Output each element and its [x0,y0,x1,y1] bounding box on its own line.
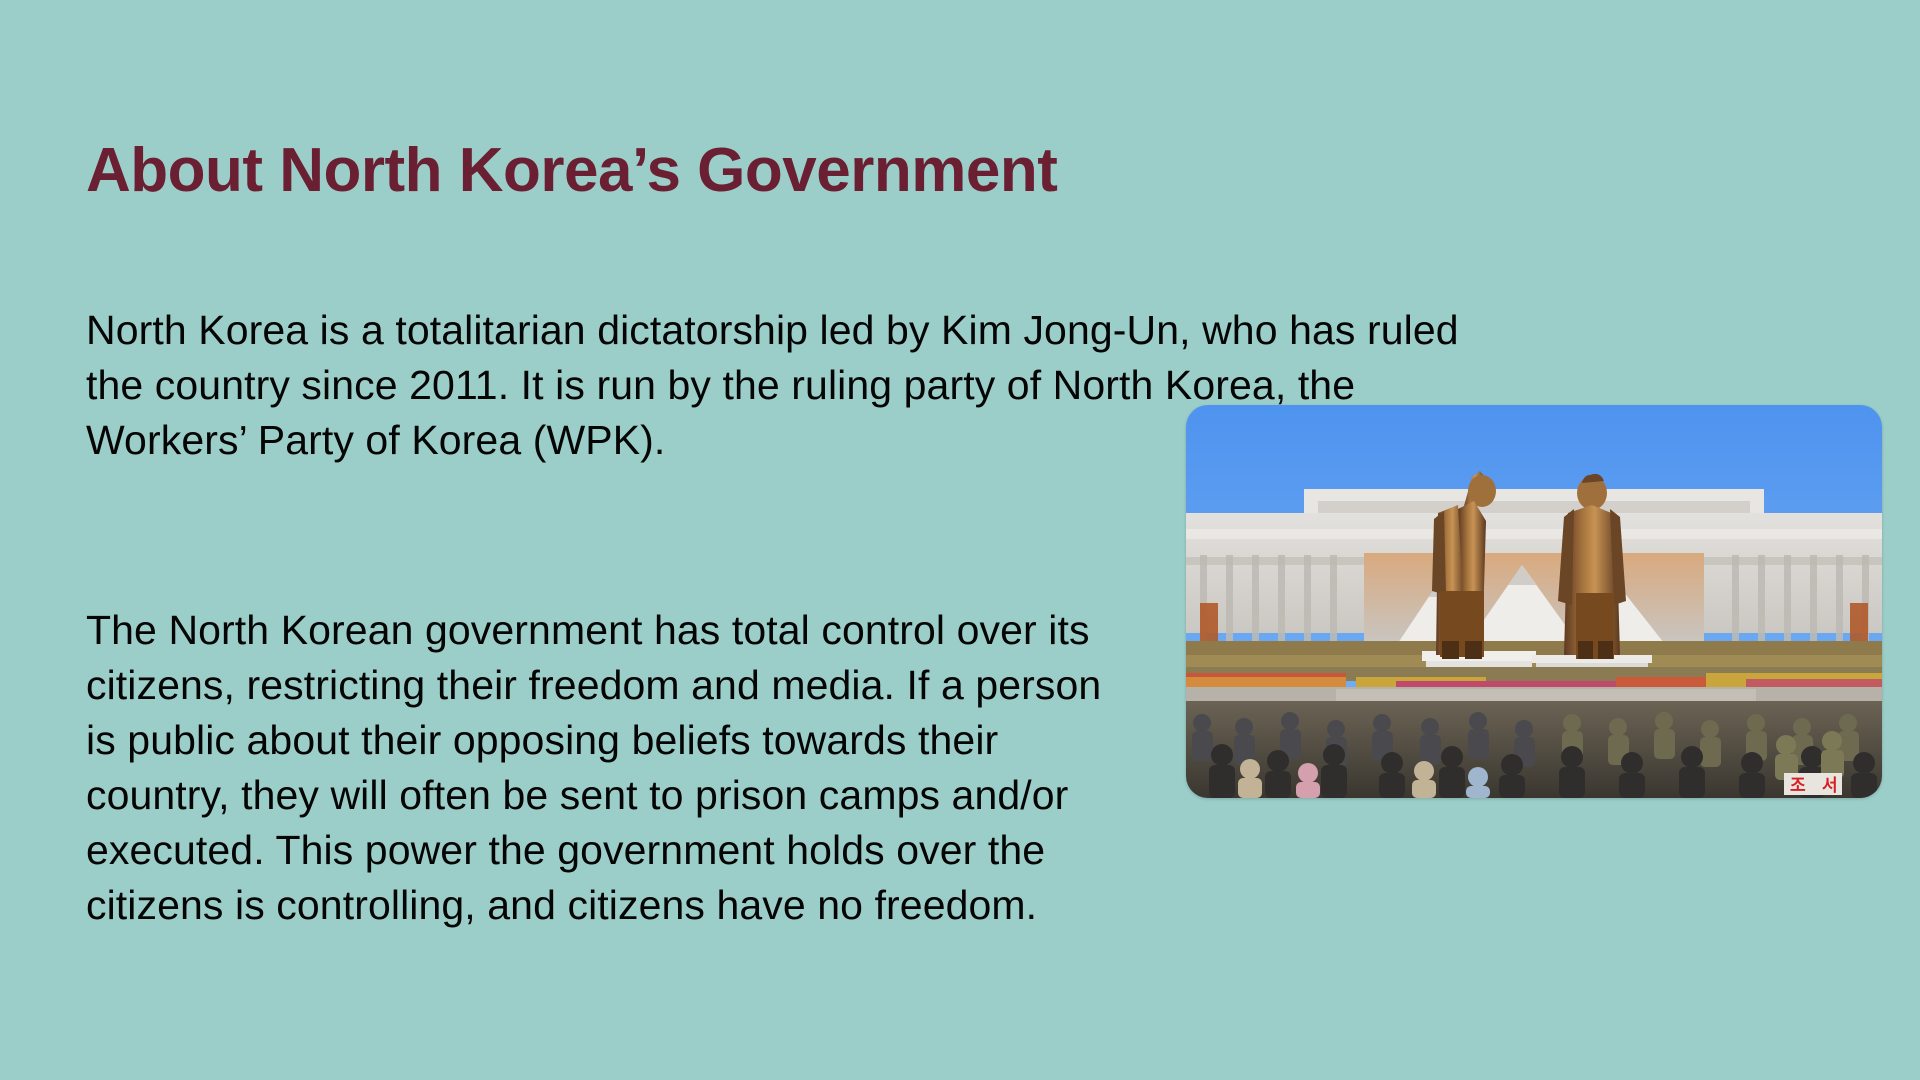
monument-photo-illustration: 조 서 [1186,405,1882,798]
red-banner: 조 서 [1784,773,1842,795]
body-paragraph-2: The North Korean government has total co… [86,603,1136,933]
slide-canvas: About North Korea’s Government North Kor… [0,0,1920,1080]
svg-text:조: 조 [1790,776,1806,795]
svg-text:서: 서 [1822,776,1838,795]
mansudae-grand-monument-photo: 조 서 [1186,405,1882,798]
page-title: About North Korea’s Government [86,138,1057,203]
